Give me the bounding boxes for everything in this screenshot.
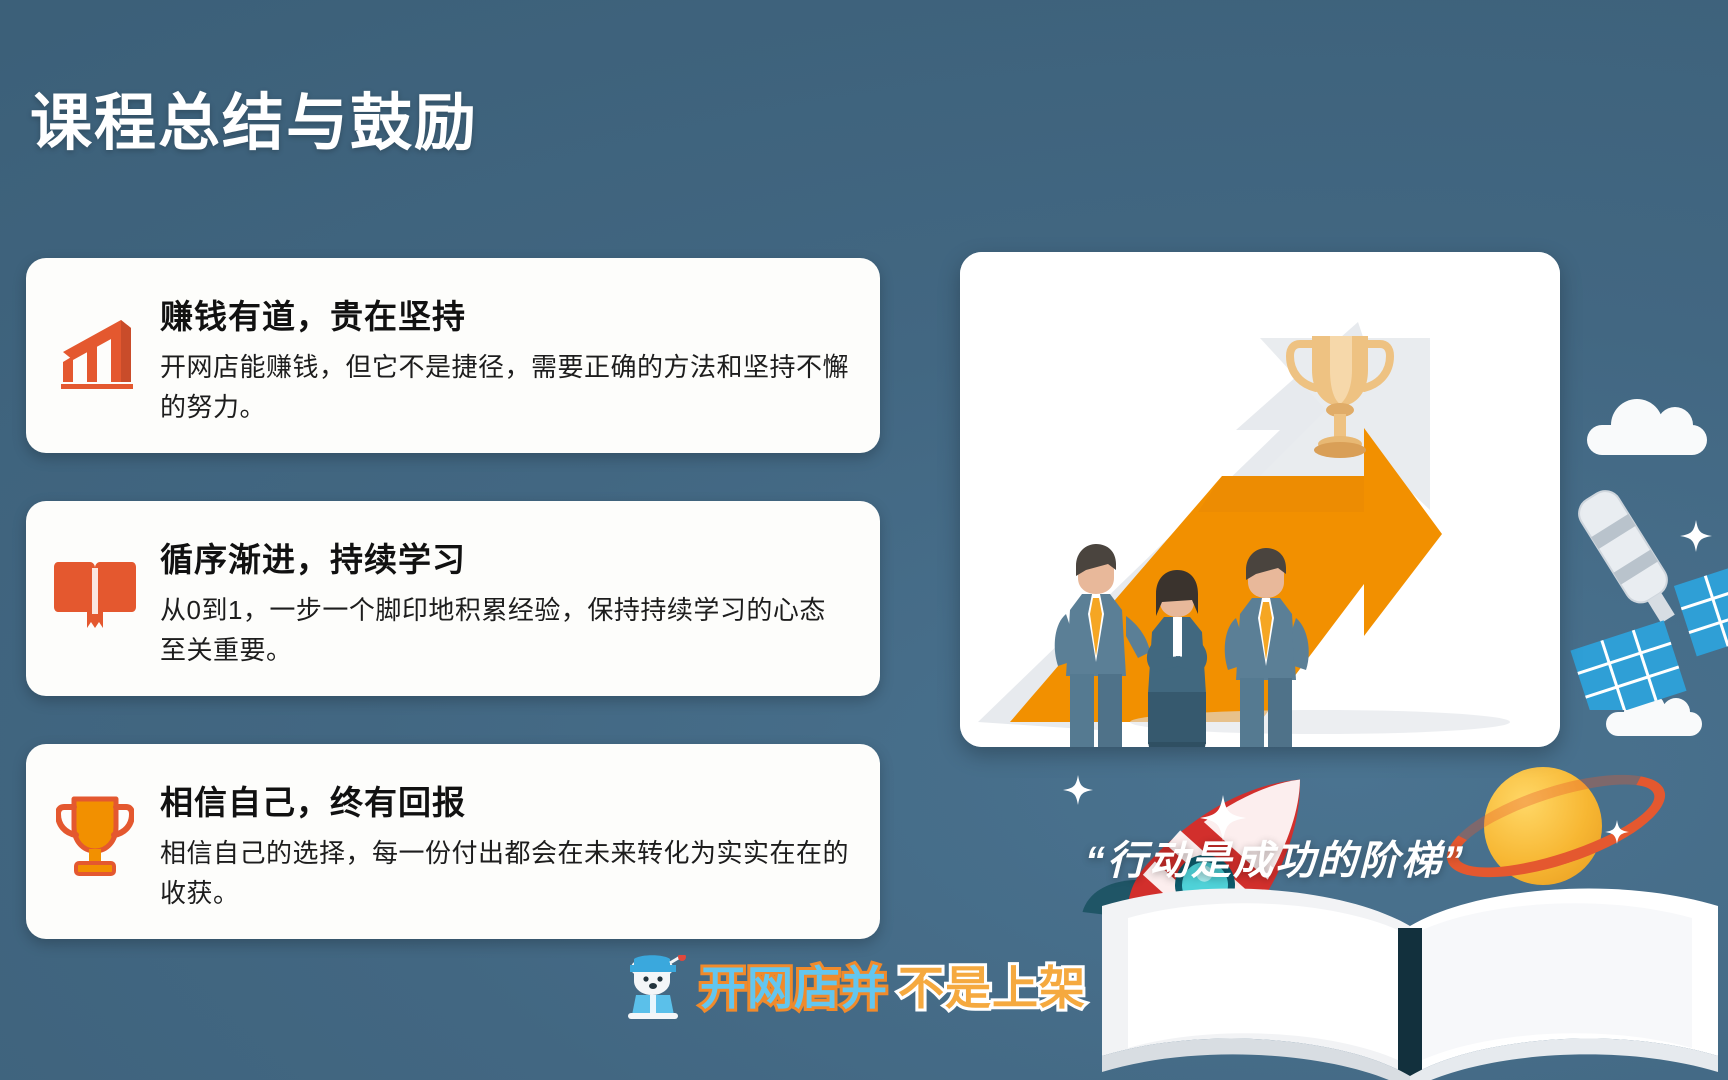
- summary-card-title: 赚钱有道，贵在坚持: [160, 290, 852, 338]
- watermark-text-primary: 开网店并: [700, 965, 888, 1011]
- star-icon: [1316, 903, 1350, 937]
- open-book-icon: [1080, 880, 1728, 1080]
- watermark: 开网店并 不是上架: [620, 955, 1086, 1021]
- summary-card-title: 循序渐进，持续学习: [160, 533, 852, 581]
- summary-card-list: 赚钱有道，贵在坚持 开网店能赚钱，但它不是捷径，需要正确的方法和坚持不懈的努力。…: [26, 258, 880, 987]
- summary-card-text: 从0到1，一步一个脚印地积累经验，保持持续学习的心态至关重要。: [160, 591, 852, 670]
- star-icon: [1605, 820, 1629, 844]
- business-growth-illustration: [960, 252, 1560, 747]
- summary-card-text: 相信自己的选择，每一份付出都会在未来转化为实实在在的收获。: [160, 834, 852, 913]
- summary-card-body: 循序渐进，持续学习 从0到1，一步一个脚印地积累经验，保持持续学习的心态至关重要…: [160, 527, 852, 670]
- summary-card-text: 开网店能赚钱，但它不是捷径，需要正确的方法和坚持不懈的努力。: [160, 348, 852, 427]
- summary-card[interactable]: 循序渐进，持续学习 从0到1，一步一个脚印地积累经验，保持持续学习的心态至关重要…: [26, 501, 880, 696]
- summary-card[interactable]: 相信自己，终有回报 相信自己的选择，每一份付出都会在未来转化为实实在在的收获。: [26, 744, 880, 939]
- star-icon: [1063, 775, 1093, 805]
- page-title: 课程总结与鼓励: [30, 72, 478, 162]
- cloud-icon: [1606, 712, 1702, 736]
- illustration-panel: [960, 252, 1560, 747]
- watermark-text-secondary: 不是上架: [898, 965, 1086, 1011]
- summary-card-title: 相信自己，终有回报: [160, 776, 852, 824]
- summary-card-body: 相信自己，终有回报 相信自己的选择，每一份付出都会在未来转化为实实在在的收获。: [160, 770, 852, 913]
- summary-card[interactable]: 赚钱有道，贵在坚持 开网店能赚钱，但它不是捷径，需要正确的方法和坚持不懈的努力。: [26, 258, 880, 453]
- star-icon: [1680, 520, 1712, 552]
- cloud-icon: [1587, 425, 1707, 455]
- trophy-icon: [52, 786, 138, 886]
- summary-card-body: 赚钱有道，贵在坚持 开网店能赚钱，但它不是捷径，需要正确的方法和坚持不懈的努力。: [160, 284, 852, 427]
- bar-chart-growth-icon: [52, 300, 138, 400]
- slide-root: 课程总结与鼓励 赚钱有道，贵在坚持 开网店能赚钱，但它不是捷径，需要正确的方法和…: [0, 0, 1728, 1080]
- bear-mascot-icon: [620, 955, 690, 1021]
- planet-icon: [1442, 745, 1672, 915]
- open-book-icon: [52, 543, 138, 643]
- motivational-quote: “行动是成功的阶梯”: [1075, 828, 1475, 886]
